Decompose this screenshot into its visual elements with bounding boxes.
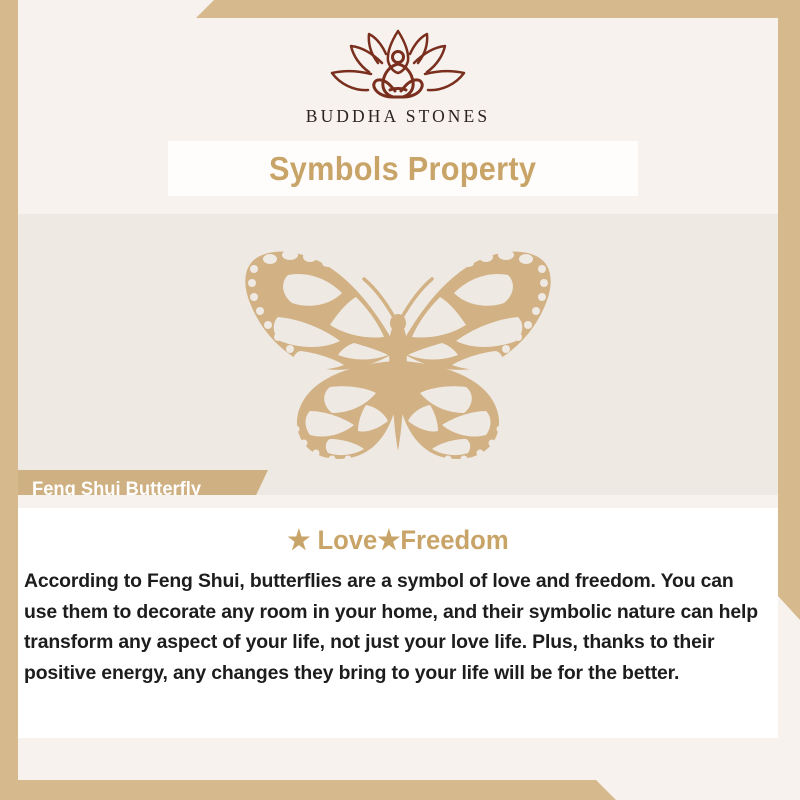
hero-illustration-panel bbox=[18, 214, 778, 495]
bottom-spacer bbox=[18, 738, 778, 780]
gold-frame-right bbox=[778, 0, 800, 620]
symbols-property-infographic: BUDDHA STONES Symbols Property bbox=[0, 0, 800, 800]
page-title-plaque: Symbols Property bbox=[168, 141, 638, 196]
gold-frame-left bbox=[0, 0, 18, 800]
content-canvas: BUDDHA STONES Symbols Property bbox=[18, 18, 778, 780]
lotus-meditation-icon bbox=[323, 26, 473, 104]
gold-frame-bottom bbox=[0, 780, 800, 800]
page-title: Symbols Property bbox=[269, 150, 536, 188]
gold-frame-top bbox=[0, 0, 800, 18]
description-card: ★ Love★Freedom According to Feng Shui, b… bbox=[18, 508, 778, 738]
description-paragraph: According to Feng Shui, butterflies are … bbox=[18, 556, 778, 688]
butterfly-icon bbox=[218, 235, 578, 475]
subheading: ★ Love★Freedom bbox=[37, 508, 759, 556]
brand-name: BUDDHA STONES bbox=[306, 106, 490, 127]
brand-header: BUDDHA STONES bbox=[18, 18, 778, 140]
